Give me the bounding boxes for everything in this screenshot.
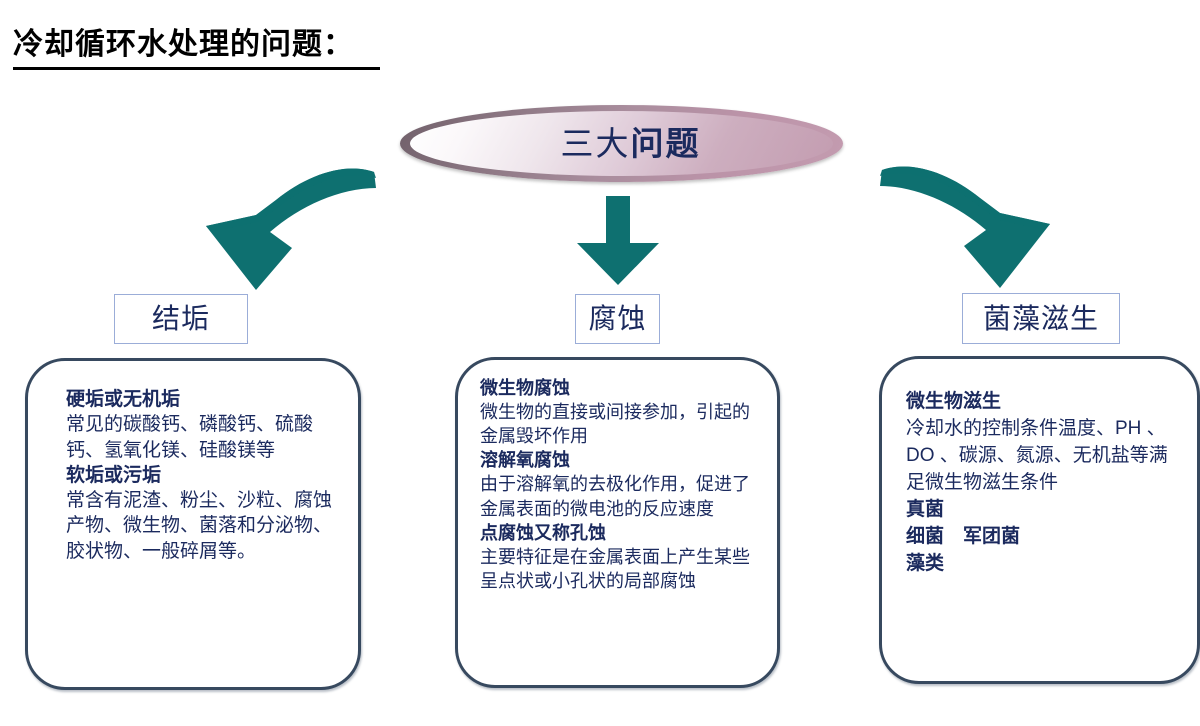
card-block-heading: 点腐蚀又称孔蚀 bbox=[480, 521, 763, 545]
card-block-heading: 溶解氧腐蚀 bbox=[480, 448, 763, 472]
card-body: 微生物滋生 冷却水的控制条件温度、PH 、DO 、碳源、氮源、无机盐等满足微生物… bbox=[882, 359, 1197, 588]
card-block-heading: 微生物腐蚀 bbox=[480, 376, 763, 400]
category-label-text: 结垢 bbox=[152, 305, 210, 333]
card-block-body: 常见的碳酸钙、磷酸钙、硫酸钙、氢氧化镁、硅酸镁等 bbox=[66, 412, 338, 463]
card-block-body: 主要特征是在金属表面上产生某些呈点状或小孔状的局部腐蚀 bbox=[480, 545, 763, 593]
card-block-heading: 微生物滋生 bbox=[906, 389, 1183, 416]
page-title: 冷却循环水处理的问题： bbox=[13, 28, 380, 70]
category-label-text: 腐蚀 bbox=[588, 305, 646, 333]
center-badge-ellipse: 三大问题 bbox=[400, 105, 843, 182]
detail-card-fushi: 微生物腐蚀 微生物的直接或间接参加，引起的金属毁坏作用 溶解氧腐蚀 由于溶解氧的… bbox=[455, 357, 780, 688]
card-block-body: 微生物的直接或间接参加，引起的金属毁坏作用 bbox=[480, 400, 763, 448]
detail-card-jiegou: 硬垢或无机垢 常见的碳酸钙、磷酸钙、硫酸钙、氢氧化镁、硅酸镁等 软垢或污垢 常含… bbox=[25, 358, 361, 690]
category-label-junzaozisheng[interactable]: 菌藻滋生 bbox=[962, 293, 1120, 344]
card-block-heading: 藻类 bbox=[906, 551, 1183, 578]
detail-card-junzaozisheng: 微生物滋生 冷却水的控制条件温度、PH 、DO 、碳源、氮源、无机盐等满足微生物… bbox=[879, 356, 1200, 684]
arrow-center-straight-icon bbox=[575, 196, 661, 286]
arrow-right-curved-icon bbox=[870, 158, 1060, 306]
center-badge-thin-text: 三大 bbox=[561, 127, 631, 160]
card-block-body: 常含有泥渣、粉尘、沙粒、腐蚀产物、微生物、菌落和分泌物、胶状物、一般碎屑等。 bbox=[66, 488, 338, 564]
card-block-heading: 真菌 bbox=[906, 497, 1183, 524]
title-underline bbox=[13, 67, 380, 70]
card-block-body: 冷却水的控制条件温度、PH 、DO 、碳源、氮源、无机盐等满足微生物滋生条件 bbox=[906, 416, 1183, 497]
card-block-heading: 细菌 军团菌 bbox=[906, 524, 1183, 551]
arrow-left-curved-icon bbox=[196, 160, 386, 305]
card-body: 硬垢或无机垢 常见的碳酸钙、磷酸钙、硫酸钙、氢氧化镁、硅酸镁等 软垢或污垢 常含… bbox=[28, 361, 358, 574]
category-label-jiegou[interactable]: 结垢 bbox=[114, 294, 248, 344]
center-badge-label: 三大问题 bbox=[400, 105, 843, 182]
card-block-heading: 硬垢或无机垢 bbox=[66, 387, 338, 412]
card-body: 微生物腐蚀 微生物的直接或间接参加，引起的金属毁坏作用 溶解氧腐蚀 由于溶解氧的… bbox=[458, 360, 777, 603]
category-label-fushi[interactable]: 腐蚀 bbox=[575, 294, 660, 344]
card-block-heading: 软垢或污垢 bbox=[66, 463, 338, 488]
page-title-text: 冷却循环水处理的问题： bbox=[13, 28, 380, 63]
center-badge-bold-text: 问题 bbox=[631, 127, 701, 160]
category-label-text: 菌藻滋生 bbox=[983, 305, 1099, 333]
slide-root: 冷却循环水处理的问题： 三大问题 结垢 腐蚀 菌藻滋生 bbox=[0, 0, 1200, 726]
card-block-body: 由于溶解氧的去极化作用，促进了金属表面的微电池的反应速度 bbox=[480, 472, 763, 520]
